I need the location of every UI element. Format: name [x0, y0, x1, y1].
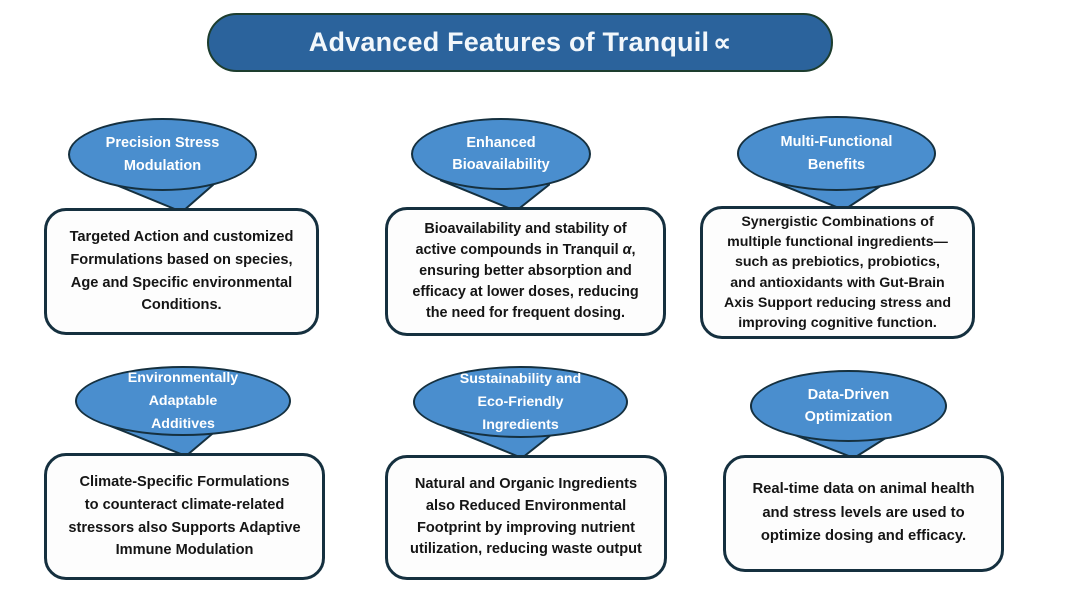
feature-card-sustainability-eco-friendly-ingredients[interactable]: Natural and Organic Ingredients also Red… — [385, 455, 667, 580]
feature-bubble-data-driven-optimization[interactable]: Data-Driven Optimization — [750, 370, 947, 442]
feature-card-enhanced-bioavailability[interactable]: Bioavailability and stability of active … — [385, 207, 666, 336]
feature-card-text: Bioavailability and stability of active … — [400, 219, 650, 323]
proportional-to-symbol: ∝ — [709, 29, 731, 57]
feature-card-text: Climate-Specific Formulations to counter… — [56, 471, 312, 561]
feature-bubble-label: Sustainability and Eco-Friendly Ingredie… — [446, 368, 595, 437]
feature-card-text: Synergistic Combinations of multiple fun… — [712, 212, 963, 333]
infographic-canvas: Advanced Features of Tranquil∝ Precision… — [0, 0, 1077, 606]
feature-card-multi-functional-benefits[interactable]: Synergistic Combinations of multiple fun… — [700, 206, 975, 339]
page-title-main: Advanced Features of Tranquil — [309, 27, 709, 57]
feature-card-text-pre: Bioavailability and stability of active … — [415, 221, 626, 258]
feature-bubble-precision-stress-modulation[interactable]: Precision Stress Modulation — [68, 118, 257, 191]
feature-bubble-enhanced-bioavailability[interactable]: Enhanced Bioavailability — [411, 118, 591, 190]
feature-card-data-driven-optimization[interactable]: Real-time data on animal health and stre… — [723, 455, 1004, 572]
feature-bubble-multi-functional-benefits[interactable]: Multi-Functional Benefits — [737, 116, 936, 191]
alpha-symbol: α — [623, 242, 632, 258]
feature-bubble-label: Precision Stress Modulation — [92, 132, 234, 177]
feature-card-environmentally-adaptable-additives[interactable]: Climate-Specific Formulations to counter… — [44, 453, 325, 580]
feature-bubble-sustainability-eco-friendly-ingredients[interactable]: Sustainability and Eco-Friendly Ingredie… — [413, 366, 628, 438]
feature-bubble-label: Enhanced Bioavailability — [438, 132, 564, 177]
page-title: Advanced Features of Tranquil∝ — [309, 27, 731, 58]
feature-card-text: Real-time data on animal health and stre… — [740, 478, 986, 549]
feature-card-text: Targeted Action and customized Formulati… — [58, 226, 306, 316]
feature-card-text: Natural and Organic Ingredients also Red… — [398, 474, 654, 560]
feature-bubble-label: Multi-Functional Benefits — [767, 131, 907, 176]
feature-bubble-environmentally-adaptable-additives[interactable]: Environmentally Adaptable Additives — [75, 366, 291, 436]
feature-bubble-label: Data-Driven Optimization — [791, 384, 907, 429]
feature-card-precision-stress-modulation[interactable]: Targeted Action and customized Formulati… — [44, 208, 319, 335]
page-title-pill: Advanced Features of Tranquil∝ — [207, 13, 833, 72]
feature-bubble-label: Environmentally Adaptable Additives — [114, 367, 252, 436]
